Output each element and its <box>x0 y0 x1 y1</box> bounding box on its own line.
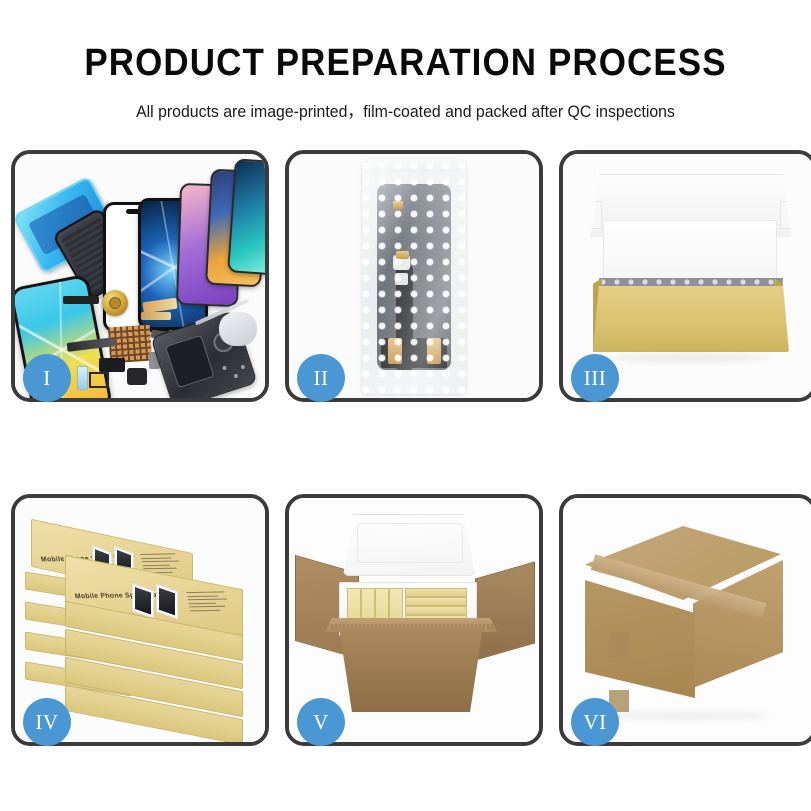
step-badge-6: VI <box>571 698 619 746</box>
step-panel-4: Mobile Phone Spare Parts Mobile Phone Sp… <box>11 494 269 746</box>
step-badge-2: II <box>297 354 345 402</box>
box-artwork-screen <box>156 584 178 620</box>
page-title: PRODUCT PREPARATION PROCESS <box>32 44 778 84</box>
teal-display-phone <box>227 158 265 275</box>
process-steps-grid: I <box>11 150 801 800</box>
kraft-inner-box <box>593 286 789 352</box>
step-panel-1: I <box>11 150 269 402</box>
gold-connector-part-2 <box>141 312 171 320</box>
box-checklist <box>186 591 234 614</box>
step-badge-5: V <box>297 698 345 746</box>
small-component-1 <box>99 358 125 372</box>
small-component-2 <box>127 368 147 385</box>
step-panel-3: III <box>559 150 811 402</box>
step-panel-2: II <box>285 150 543 402</box>
header: PRODUCT PREPARATION PROCESS All products… <box>0 0 811 122</box>
carton-flap-right <box>475 561 535 660</box>
step-badge-1: I <box>23 354 71 402</box>
plastic-sheen <box>362 162 466 394</box>
outer-carton-body <box>329 626 493 712</box>
small-component-4 <box>89 372 109 388</box>
small-component-3 <box>77 366 88 390</box>
screws-detail <box>219 362 247 382</box>
product-preparation-infographic: PRODUCT PREPARATION PROCESS All products… <box>0 0 811 811</box>
step-panel-6: VI <box>559 494 811 746</box>
tweezers-icon <box>193 304 253 338</box>
page-subtitle: All products are image-printed，film-coat… <box>16 98 795 122</box>
tape-tab-upper <box>609 632 629 658</box>
flex-cable-part-3 <box>63 296 99 304</box>
step-badge-3: III <box>571 354 619 402</box>
step-badge-4: IV <box>23 698 71 746</box>
gold-coil-part <box>102 290 128 316</box>
step-panel-5: V <box>285 494 543 746</box>
bubble-wrap-package <box>362 162 466 394</box>
foam-cooler-lid <box>343 514 475 576</box>
